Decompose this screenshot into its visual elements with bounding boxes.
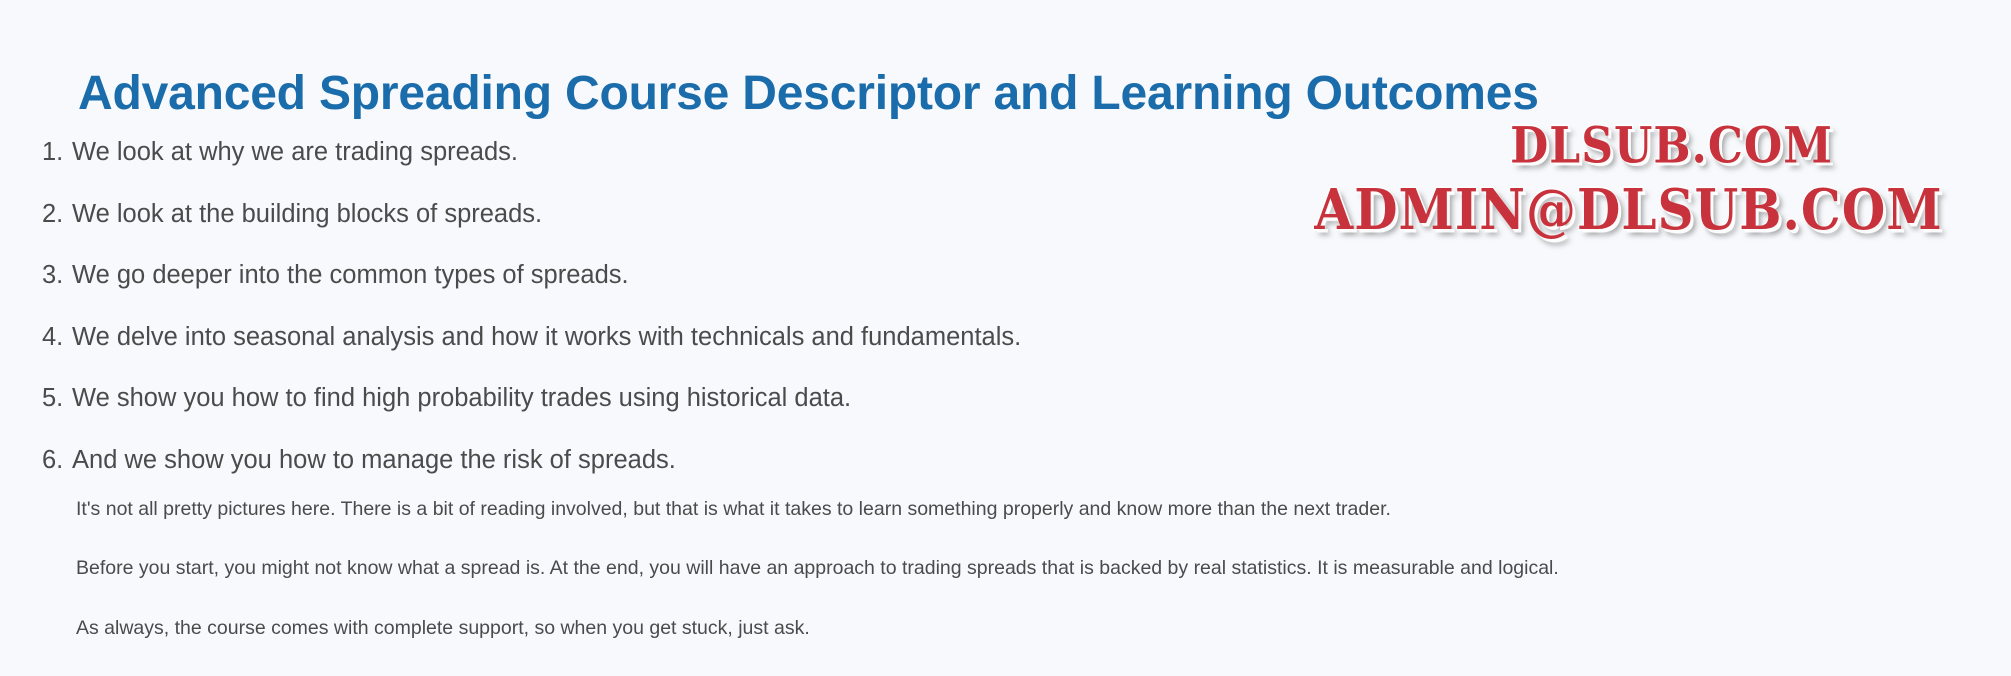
list-item: 4. We delve into seasonal analysis and h… bbox=[42, 323, 1292, 351]
watermark-email-text: ADMIN@DLSUB.COM bbox=[1246, 181, 2011, 238]
list-item-label: We delve into seasonal analysis and how … bbox=[72, 323, 1021, 351]
site-watermark: DLSUB.COM ADMIN@DLSUB.COM bbox=[1290, 122, 2011, 232]
list-item-number: 5. bbox=[42, 384, 72, 412]
list-item: 2. We look at the building blocks of spr… bbox=[42, 200, 1292, 228]
list-item-label: We look at the building blocks of spread… bbox=[72, 200, 542, 228]
closing-paragraph: Before you start, you might not know wha… bbox=[76, 557, 2006, 579]
list-item-number: 3. bbox=[42, 261, 72, 289]
list-item: 3. We go deeper into the common types of… bbox=[42, 261, 1292, 289]
list-item: 5. We show you how to find high probabil… bbox=[42, 384, 1292, 412]
list-item-label: We show you how to find high probability… bbox=[72, 384, 851, 412]
list-item-number: 6. bbox=[42, 446, 72, 474]
list-item: 1. We look at why we are trading spreads… bbox=[42, 138, 1292, 166]
list-item: 6. And we show you how to manage the ris… bbox=[42, 446, 1292, 474]
page-title: Advanced Spreading Course Descriptor and… bbox=[78, 68, 1539, 121]
closing-paragraphs: It's not all pretty pictures here. There… bbox=[76, 498, 2006, 676]
closing-paragraph: It's not all pretty pictures here. There… bbox=[76, 498, 2006, 520]
list-item-label: We go deeper into the common types of sp… bbox=[72, 261, 629, 289]
list-item-number: 4. bbox=[42, 323, 72, 351]
list-item-label: We look at why we are trading spreads. bbox=[72, 138, 518, 166]
learning-outcomes-list: 1. We look at why we are trading spreads… bbox=[42, 138, 1292, 507]
closing-paragraph: As always, the course comes with complet… bbox=[76, 617, 2006, 639]
watermark-domain-text: DLSUB.COM bbox=[1332, 122, 2011, 172]
list-item-number: 1. bbox=[42, 138, 72, 166]
document-page: Advanced Spreading Course Descriptor and… bbox=[0, 0, 2011, 668]
list-item-number: 2. bbox=[42, 200, 72, 228]
list-item-label: And we show you how to manage the risk o… bbox=[72, 446, 676, 474]
